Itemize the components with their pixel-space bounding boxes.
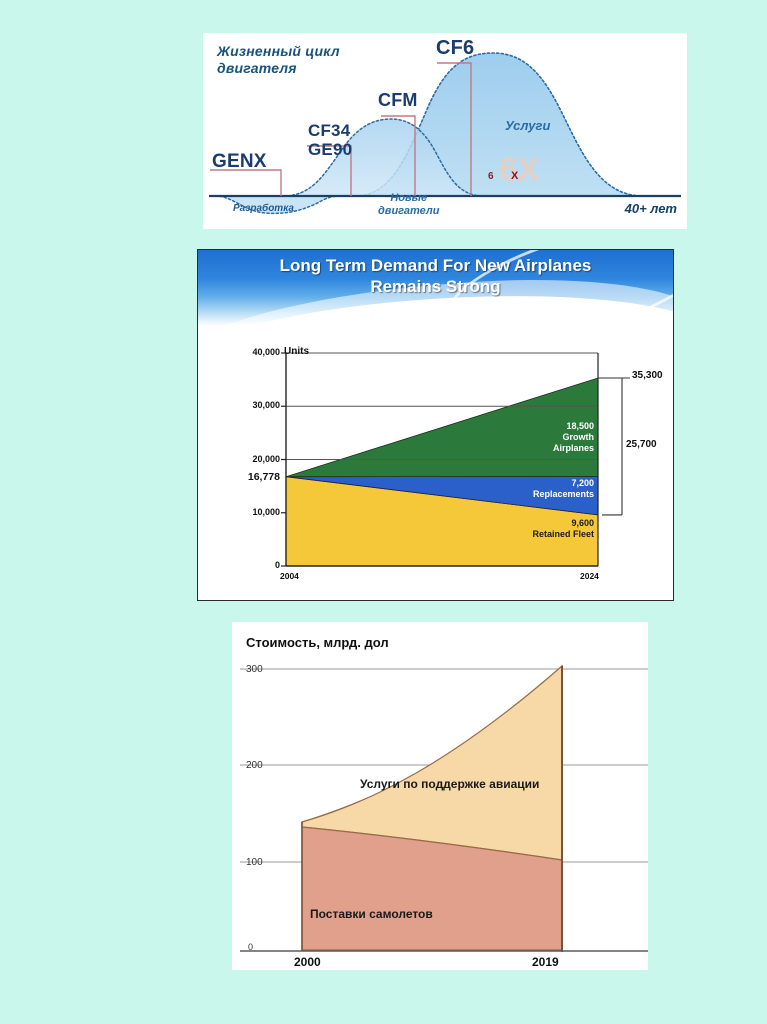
marker-label-cfm: CFM (378, 90, 418, 111)
demand-plot-area: Units 40,000 30,000 20,000 16,778 10,000… (198, 326, 673, 602)
watermark-small-6: 6 (488, 171, 494, 182)
watermark-small-x: X (511, 170, 518, 182)
ytick-0: 0 (214, 560, 280, 570)
phase-label-new-engines: Новые двигатели (378, 192, 439, 218)
ytick-300: 300 (246, 664, 263, 675)
ytick-10000: 10,000 (214, 507, 280, 517)
xtick-2024: 2024 (580, 571, 599, 581)
xtick-2019: 2019 (532, 955, 559, 969)
engine-lifecycle-chart: Жизненный цикл двигателя GENX CF34 GE90 … (203, 33, 687, 229)
ytick-16778: 16,778 (214, 471, 280, 483)
label-retained-name: Retained Fleet (470, 529, 594, 540)
long-term-demand-chart: Long Term Demand For New Airplanes Remai… (197, 249, 674, 601)
watermark-6x: 6X (499, 151, 539, 190)
lifecycle-title: Жизненный цикл двигателя (217, 43, 340, 77)
annotation-35300: 35,300 (632, 370, 663, 381)
demand-title-line2: Remains Strong (198, 276, 673, 297)
phase-label-new-engines-line2: двигатели (378, 205, 439, 218)
ytick-40000: 40,000 (214, 347, 280, 357)
marker-label-genx: GENX (212, 151, 267, 173)
cost-areas (232, 622, 648, 970)
label-replacements-value: 7,200 (476, 478, 594, 489)
demand-title-line1: Long Term Demand For New Airplanes (198, 255, 673, 276)
marker-label-ge90: GE90 (308, 140, 352, 159)
lifecycle-title-line2: двигателя (217, 60, 340, 77)
marker-label-cf6: CF6 (436, 37, 474, 60)
phase-label-services: Услуги (505, 118, 550, 133)
annotation-25700: 25,700 (626, 439, 657, 450)
label-retained-value: 9,600 (470, 518, 594, 529)
series-label-airplane-deliveries: Поставки самолетов (310, 907, 433, 921)
y-axis-units-label: Units (284, 346, 309, 357)
ytick-100: 100 (246, 857, 263, 868)
xtick-2004: 2004 (280, 571, 299, 581)
genx-leader (210, 170, 281, 196)
ytick-20000: 20,000 (214, 454, 280, 464)
marker-label-cf34: CF34 (308, 121, 352, 140)
marker-label-cf34-ge90: CF34 GE90 (308, 121, 352, 159)
aviation-cost-chart: Стоимость, млрд. дол 300 200 100 0 2000 … (232, 622, 648, 970)
ytick-200: 200 (246, 760, 263, 771)
label-growth-airplanes: 18,500 Growth Airplanes (498, 421, 594, 454)
ytick-30000: 30,000 (214, 400, 280, 410)
phase-label-development: Разработка (233, 203, 294, 214)
label-replacements: 7,200 Replacements (476, 478, 594, 500)
demand-title: Long Term Demand For New Airplanes Remai… (198, 250, 673, 297)
xtick-2000: 2000 (294, 955, 321, 969)
label-growth-name2: Airplanes (498, 443, 594, 454)
demand-header-banner: Long Term Demand For New Airplanes Remai… (198, 250, 673, 326)
axis-label-years: 40+ лет (625, 201, 677, 216)
label-growth-name1: Growth (498, 432, 594, 443)
label-retained-fleet: 9,600 Retained Fleet (470, 518, 594, 540)
ytick-0: 0 (248, 942, 253, 952)
series-label-aviation-services: Услуги по поддержке авиации (360, 777, 539, 791)
bracket-new-airplanes (602, 378, 622, 515)
label-growth-value: 18,500 (498, 421, 594, 432)
lifecycle-title-line1: Жизненный цикл (217, 43, 340, 60)
label-replacements-name: Replacements (476, 489, 594, 500)
phase-label-new-engines-line1: Новые (378, 192, 439, 205)
